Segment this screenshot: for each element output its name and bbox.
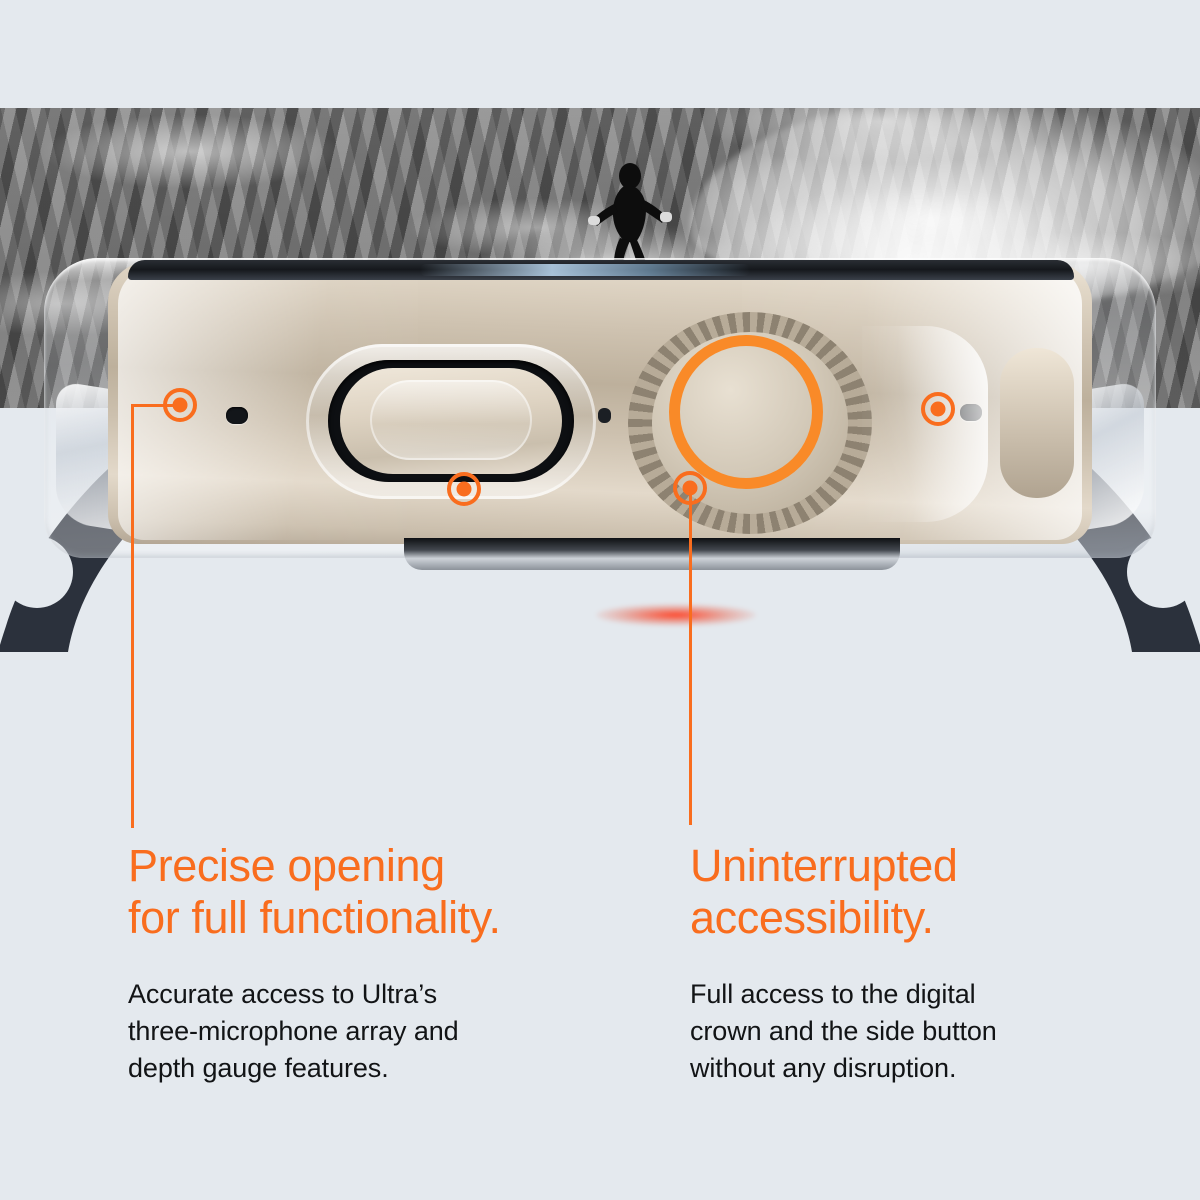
side-button (1000, 348, 1074, 498)
marker-side-button[interactable] (921, 392, 955, 426)
feature-column-uninterrupted-accessibility: Uninterrupted accessibility. Full access… (690, 840, 1200, 1087)
marker-digital-crown[interactable] (673, 471, 707, 505)
smartwatch-in-clear-case (0, 252, 1200, 652)
callout-line-right-vertical (689, 488, 692, 825)
callout-line-left-vertical (131, 405, 134, 828)
digital-crown-highlight-ring (669, 335, 823, 489)
microphone-hole-left (226, 407, 248, 424)
heart-rate-sensor-glow (596, 604, 756, 626)
feature-body-left: Accurate access to Ultra’s three-microph… (128, 976, 648, 1088)
feature-column-precise-opening: Precise opening for full functionality. … (128, 840, 648, 1087)
feature-body-right: Full access to the digital crown and the… (690, 976, 1200, 1088)
speaker-grille-inner (370, 380, 532, 460)
display-reflection (420, 264, 750, 276)
marker-speaker-opening[interactable] (447, 472, 481, 506)
feature-headline-right: Uninterrupted accessibility. (690, 840, 1200, 944)
marker-microphone-left[interactable] (163, 388, 197, 422)
product-feature-slide: Precise opening for full functionality. … (0, 0, 1200, 1200)
depth-gauge-port (598, 408, 611, 423)
feature-headline-left: Precise opening for full functionality. (128, 840, 648, 944)
crown-guard (862, 326, 988, 522)
